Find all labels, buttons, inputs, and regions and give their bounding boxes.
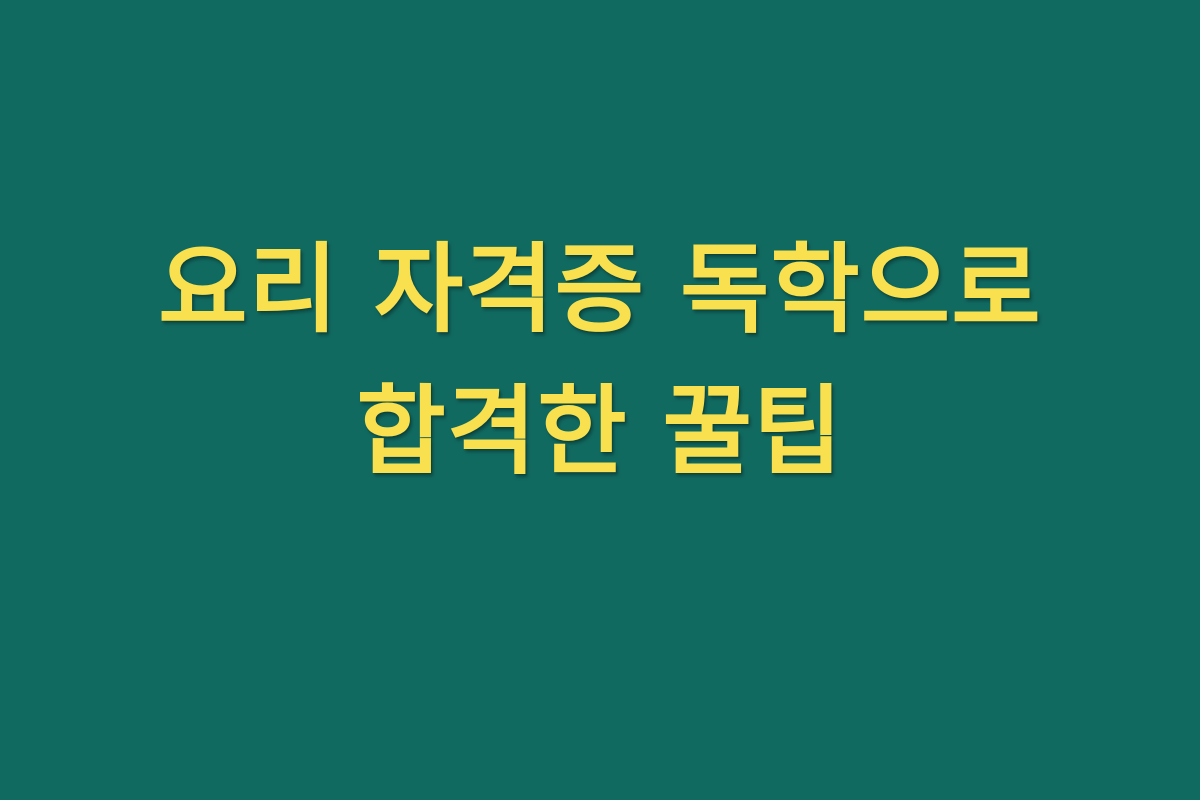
headline-line-2: 합격한 꿀팁 xyxy=(357,361,844,503)
headline-block: 요리 자격증 독학으로 합격한 꿀팁 xyxy=(0,219,1200,502)
headline-line-1: 요리 자격증 독학으로 xyxy=(158,219,1042,361)
banner-canvas: 요리 자격증 독학으로 합격한 꿀팁 xyxy=(0,0,1200,800)
